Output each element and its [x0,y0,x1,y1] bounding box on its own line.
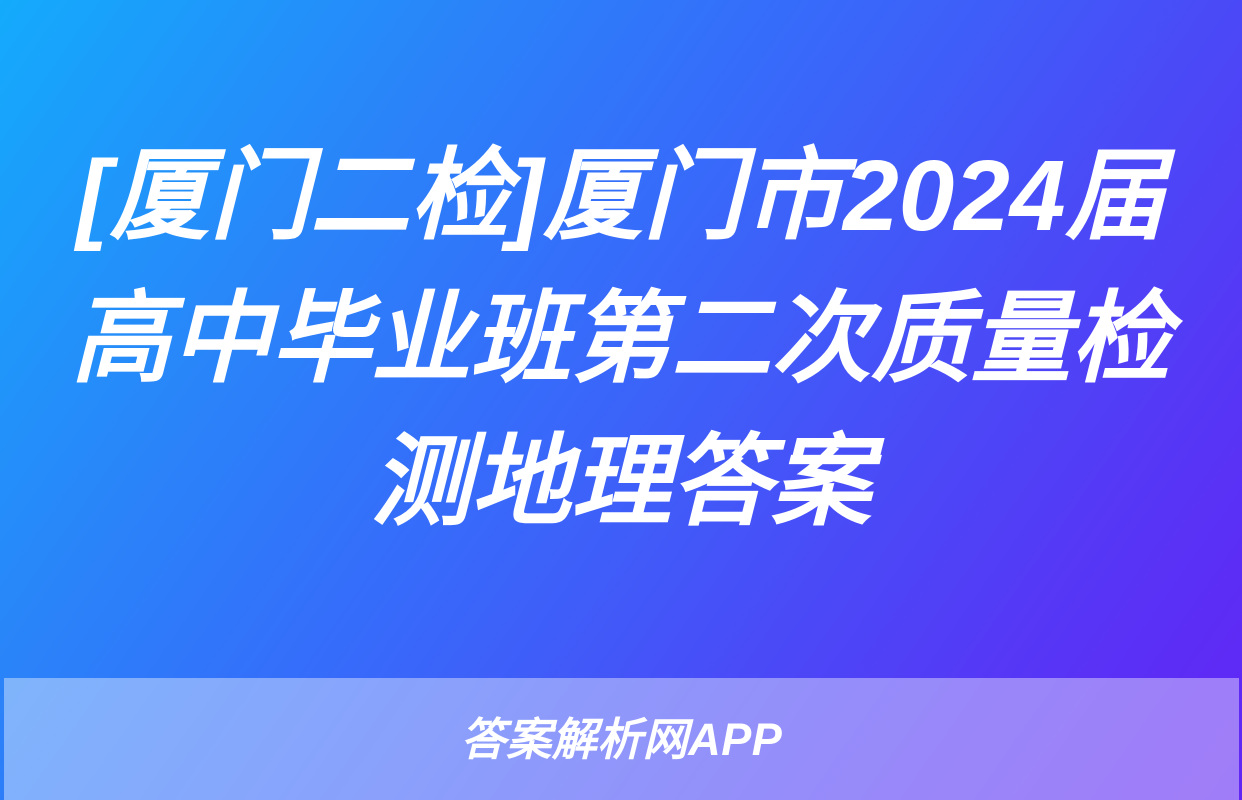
poster-canvas: [厦门二检]厦门市2024届高中毕业班第二次质量检测地理答案 答案解析网APP [0,0,1242,800]
title-block: [厦门二检]厦门市2024届高中毕业班第二次质量检测地理答案 [0,0,1242,678]
watermark-band: 答案解析网APP [4,678,1239,800]
watermark-brand-label: 答案解析网APP [461,717,783,762]
page-title: [厦门二检]厦门市2024届高中毕业班第二次质量检测地理答案 [70,125,1172,554]
